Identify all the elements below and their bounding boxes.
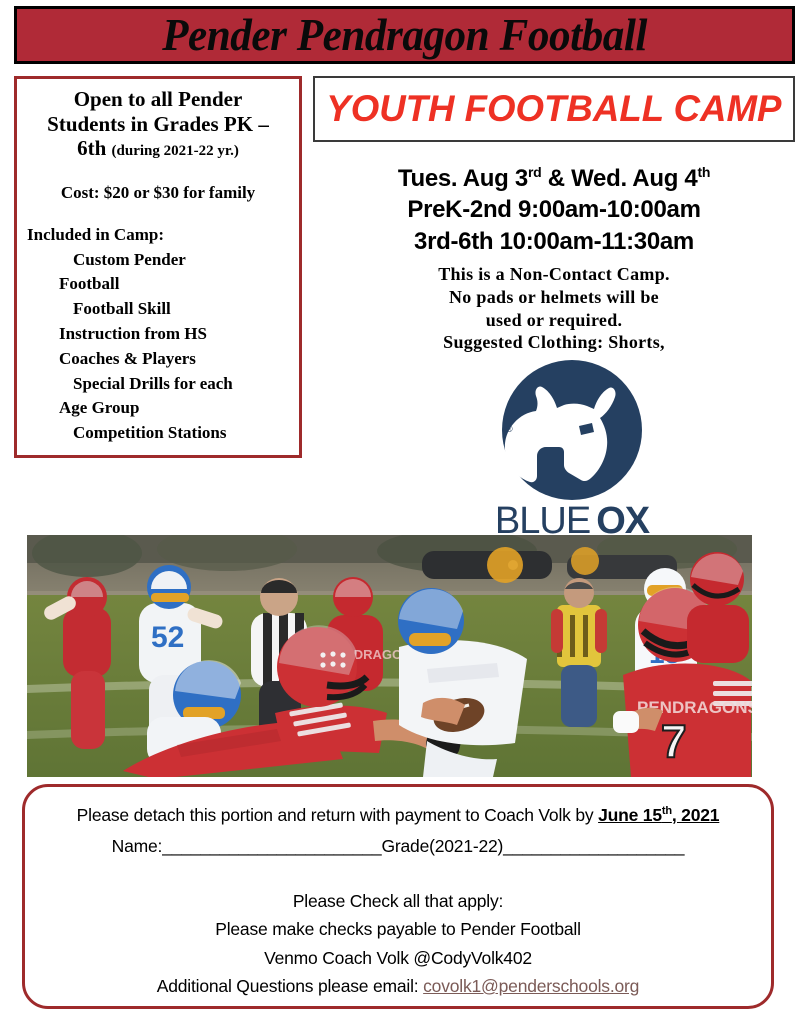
detach-instruction-text: Please detach this portion and return wi…	[77, 805, 598, 825]
camp-notes: This is a Non-Contact Camp. No pads or h…	[313, 263, 795, 354]
registered-mark: ®	[506, 424, 513, 434]
header-banner: Pender Pendragon Football	[14, 6, 795, 64]
cost-text: Cost: $20 or $30 for family	[27, 183, 289, 203]
coach-email-link[interactable]: covolk1@penderschools.org	[423, 976, 639, 996]
camp-info-box: Open to all Pender Students in Grades PK…	[14, 76, 302, 458]
svg-text:52: 52	[151, 621, 184, 654]
due-date-ordinal: th	[662, 805, 672, 817]
camp-dates-ordinal-2: th	[697, 164, 710, 180]
session-time-prek-2nd: PreK-2nd 9:00am-10:00am	[313, 194, 795, 225]
name-grade-field-line[interactable]: Name:_______________________Grade(2021-2…	[43, 836, 753, 857]
email-contact-line: Additional Questions please email: covol…	[43, 972, 753, 1000]
session-time-3rd-6th: 3rd-6th 10:00am-11:30am	[313, 226, 795, 257]
due-date-main: June 15	[598, 805, 662, 825]
due-date: June 15th, 2021	[598, 805, 719, 825]
detach-form-box: Please detach this portion and return wi…	[22, 784, 774, 1009]
blue-ox-bull-icon: ®	[484, 360, 660, 500]
list-item: Special Drills for each	[27, 372, 289, 397]
list-item: Instruction from HS	[27, 322, 289, 347]
list-item: Age Group	[27, 396, 289, 421]
eligibility-year-note: (during 2021-22 yr.)	[112, 143, 239, 159]
list-item: Football	[27, 272, 289, 297]
email-label: Additional Questions please email:	[157, 976, 423, 996]
included-list: Included in Camp: Custom Pender Football…	[27, 223, 289, 446]
sponsor-logo: ® BLUEOX	[484, 360, 660, 540]
note-line-3: used or required.	[313, 309, 795, 332]
camp-dates-part-2: & Wed. Aug 4	[541, 165, 697, 192]
eligibility-grade: 6th	[77, 136, 106, 160]
note-line-1: This is a Non-Contact Camp.	[313, 263, 795, 286]
note-line-4: Suggested Clothing: Shorts,	[313, 331, 795, 354]
camp-title: YOUTH FOOTBALL CAMP	[326, 88, 781, 130]
note-line-2: No pads or helmets will be	[313, 286, 795, 309]
camp-dates: Tues. Aug 3rd & Wed. Aug 4th	[313, 163, 795, 194]
football-photo-graphic: 52 PENDRAGONS	[27, 535, 752, 777]
due-date-year: , 2021	[672, 805, 719, 825]
list-item: Football Skill	[27, 297, 289, 322]
eligibility-line-2: Students in Grades PK –	[47, 112, 269, 136]
camp-title-box: YOUTH FOOTBALL CAMP	[313, 76, 795, 142]
detach-instruction: Please detach this portion and return wi…	[43, 805, 753, 826]
camp-dates-part-1: Tues. Aug 3	[398, 165, 528, 192]
list-item: Competition Stations	[27, 421, 289, 446]
eligibility-line-1: Open to all Pender	[74, 87, 243, 111]
page-title: Pender Pendragon Football	[162, 13, 647, 58]
svg-text:7: 7	[661, 715, 687, 767]
payment-instructions: Please Check all that apply: Please make…	[43, 887, 753, 1000]
list-item: Custom Pender	[27, 248, 289, 273]
included-label: Included in Camp:	[27, 223, 289, 248]
football-action-photo: 52 PENDRAGONS	[27, 535, 752, 777]
schedule-details: Tues. Aug 3rd & Wed. Aug 4th PreK-2nd 9:…	[313, 163, 795, 354]
camp-dates-ordinal-1: rd	[528, 164, 541, 180]
list-item: Coaches & Players	[27, 347, 289, 372]
check-all-that-apply-label: Please Check all that apply:	[43, 887, 753, 915]
eligibility-heading: Open to all Pender Students in Grades PK…	[27, 87, 289, 161]
payable-option[interactable]: Please make checks payable to Pender Foo…	[43, 915, 753, 943]
venmo-option[interactable]: Venmo Coach Volk @CodyVolk402	[43, 944, 753, 972]
